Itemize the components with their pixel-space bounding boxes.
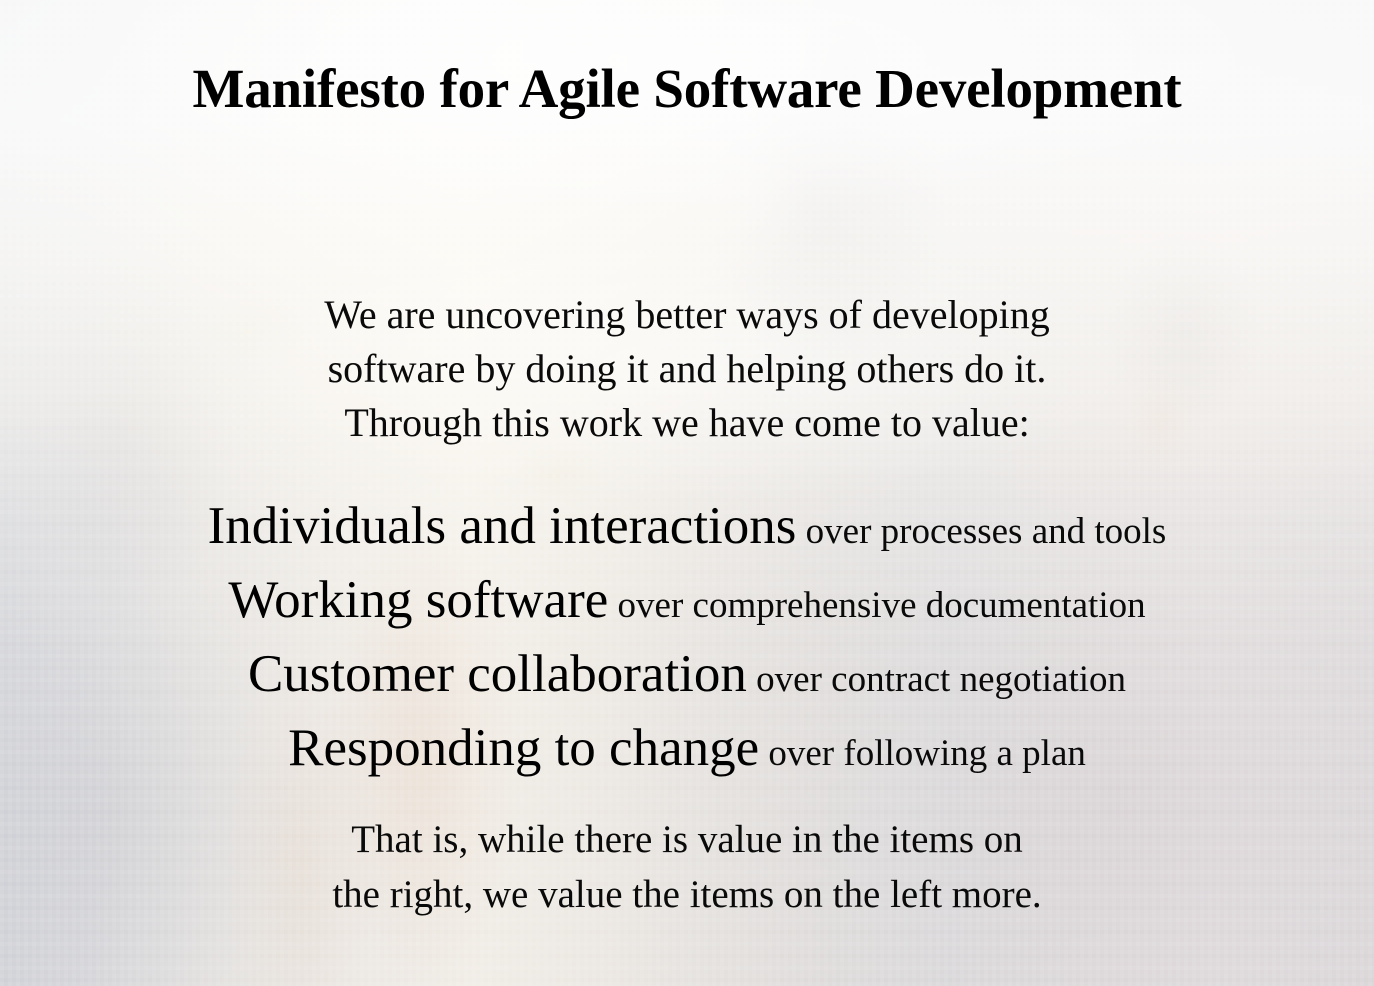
value-statements-list: Individuals and interactions over proces… [0, 489, 1374, 785]
intro-line-2: software by doing it and helping others … [0, 342, 1374, 396]
intro-line-3: Through this work we have come to value: [0, 396, 1374, 450]
value-4-major: Responding to change [288, 719, 759, 777]
closing-line-1: That is, while there is value in the ite… [0, 812, 1374, 867]
value-2-minor: comprehensive documentation [693, 585, 1146, 626]
page-title: Manifesto for Agile Software Development [0, 61, 1374, 116]
value-4-minor: following a plan [843, 733, 1086, 774]
value-2-connector: over [608, 585, 692, 626]
value-3-minor: contract negotiation [831, 659, 1126, 700]
value-3-connector: over [747, 659, 831, 700]
poster-content: Manifesto for Agile Software Development… [0, 0, 1374, 986]
value-1-connector: over [796, 511, 880, 552]
value-2-major: Working software [228, 571, 608, 629]
value-statement-1: Individuals and interactions over proces… [0, 489, 1374, 563]
agile-manifesto-poster: Manifesto for Agile Software Development… [0, 0, 1374, 986]
intro-line-1: We are uncovering better ways of develop… [0, 288, 1374, 342]
value-4-connector: over [759, 733, 843, 774]
value-statement-3: Customer collaboration over contract neg… [0, 637, 1374, 711]
value-statement-2: Working software over comprehensive docu… [0, 563, 1374, 637]
value-1-major: Individuals and interactions [208, 497, 797, 555]
closing-line-2: the right, we value the items on the lef… [0, 867, 1374, 922]
intro-paragraph: We are uncovering better ways of develop… [0, 288, 1374, 450]
value-1-minor: processes and tools [881, 511, 1167, 552]
value-statement-4: Responding to change over following a pl… [0, 711, 1374, 785]
value-3-major: Customer collaboration [248, 645, 747, 703]
closing-paragraph: That is, while there is value in the ite… [0, 812, 1374, 922]
